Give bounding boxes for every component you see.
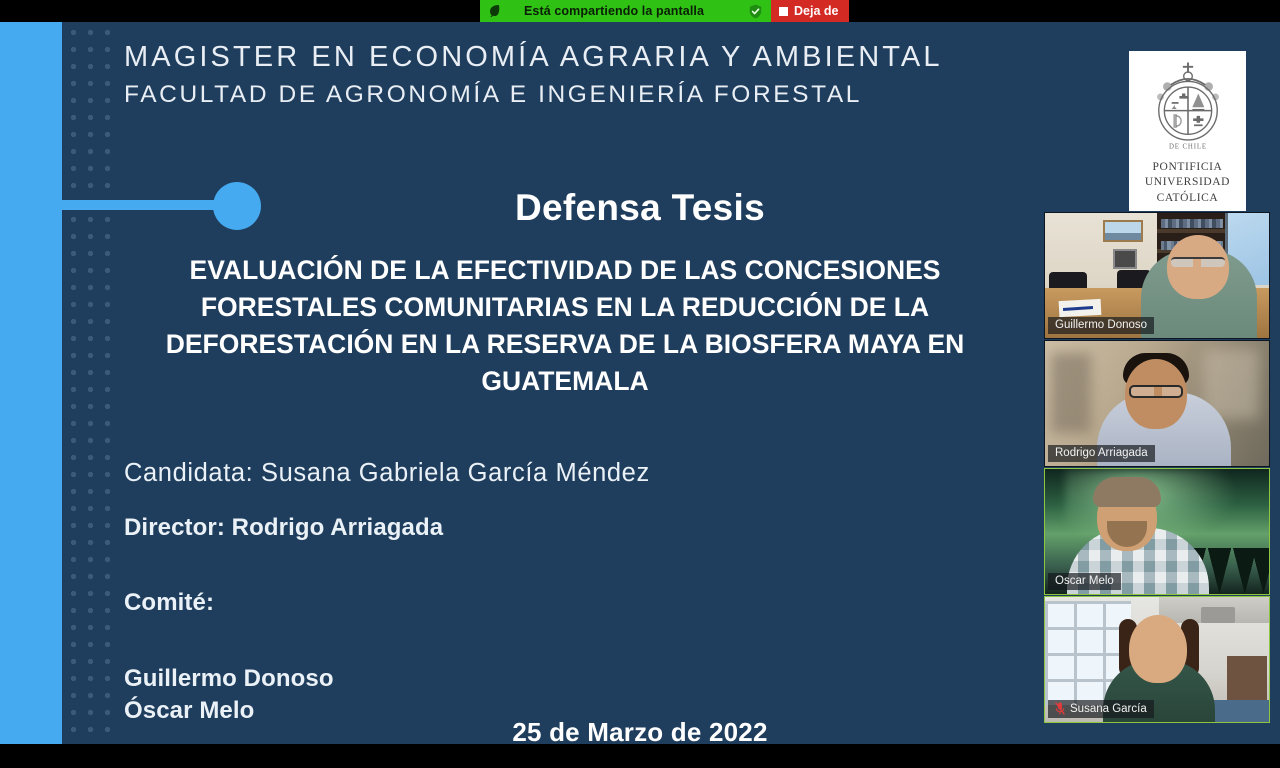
participant-name: Rodrigo Arriagada [1055,447,1148,459]
screen-share-window: Está compartiendo la pantalla Deja de MA… [0,0,1280,768]
screen-share-status: Está compartiendo la pantalla [480,0,771,22]
participant-name-badge: Oscar Melo [1048,573,1121,590]
stop-square-icon [779,7,788,16]
slide-dot-pattern [62,22,111,744]
svg-text:DE CHILE: DE CHILE [1168,144,1206,151]
shield-check-icon[interactable] [748,4,763,19]
participant-name: Oscar Melo [1055,575,1114,587]
participant-tile-guillermo-donoso[interactable]: Guillermo Donoso [1044,212,1270,339]
participant-tile-susana-garcia[interactable]: Susana García [1044,596,1270,723]
logo-line-1: PONTIFICIA [1145,160,1230,175]
participant-tile-oscar-melo[interactable]: Oscar Melo [1044,468,1270,595]
people-block: Candidata: Susana Gabriela García Méndez… [124,459,650,726]
screen-share-bar: Está compartiendo la pantalla Deja de [480,0,849,22]
slide-header: MAGISTER EN ECONOMÍA AGRARIA Y AMBIENTAL… [124,40,943,111]
participant-name: Susana García [1070,703,1147,715]
director-line: Director: Rodrigo Arriagada [124,514,650,542]
committee-label: Comité: [124,589,650,617]
leaf-icon [488,4,502,18]
program-title: MAGISTER EN ECONOMÍA AGRARIA Y AMBIENTAL [124,40,943,75]
candidate-line: Candidata: Susana Gabriela García Méndez [124,459,650,487]
participant-video-strip: Guillermo Donoso Rodrigo Arriagada Oscar… [1044,212,1270,724]
screen-share-message: Está compartiendo la pantalla [510,4,740,18]
faculty-title: FACULTAD DE AGRONOMÍA E INGENIERÍA FORES… [124,79,943,111]
participant-tile-rodrigo-arriagada[interactable]: Rodrigo Arriagada [1044,340,1270,467]
participant-name-badge: Rodrigo Arriagada [1048,445,1155,462]
slide-accent-bar [0,22,62,744]
committee-member: Guillermo Donoso [124,663,650,695]
puc-coat-of-arms-icon: DE CHILE [1145,59,1231,157]
stop-sharing-label: Deja de [794,4,838,18]
thesis-title: EVALUACIÓN DE LA EFECTIVIDAD DE LAS CONC… [115,252,1015,400]
participant-name: Guillermo Donoso [1055,319,1147,331]
participant-name-badge: Guillermo Donoso [1048,317,1154,334]
microphone-muted-icon [1055,702,1065,715]
participant-name-badge: Susana García [1048,700,1154,718]
stop-sharing-button[interactable]: Deja de [771,0,848,22]
